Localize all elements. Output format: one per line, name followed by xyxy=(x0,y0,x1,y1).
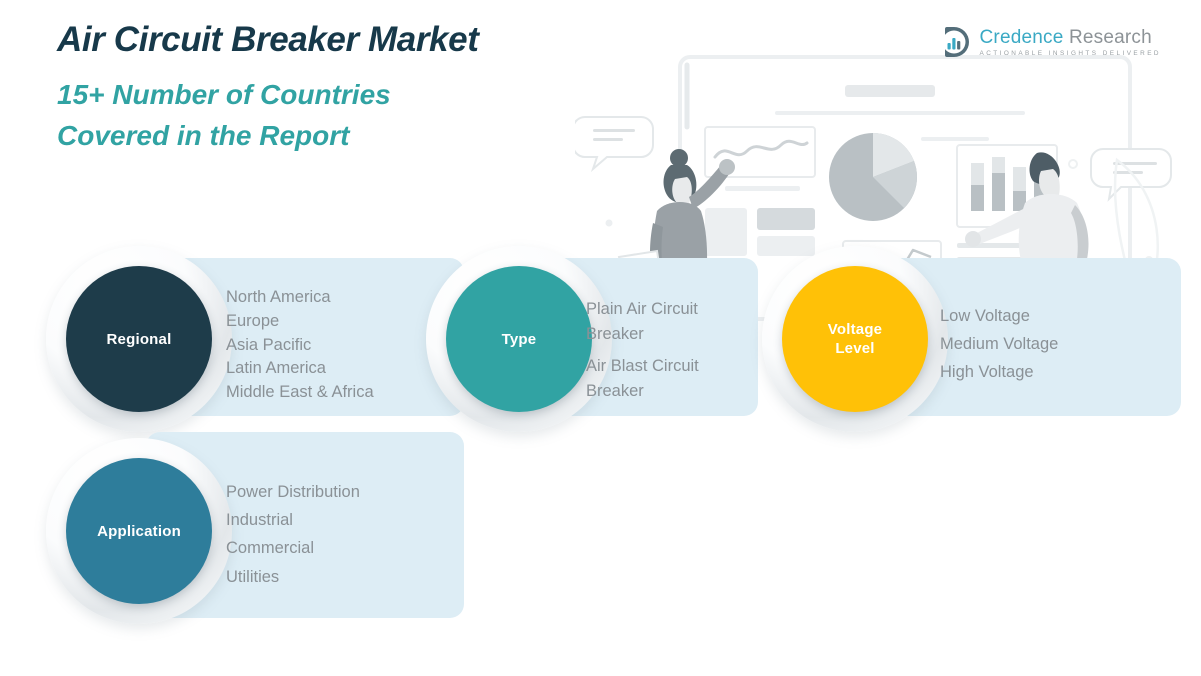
list-item: Power Distribution xyxy=(226,478,360,506)
segment-list-regional: North America Europe Asia Pacific Latin … xyxy=(226,286,374,405)
list-item: Industrial xyxy=(226,506,360,534)
logo-name-suffix: Research xyxy=(1063,27,1151,48)
logo-name-brand: Credence xyxy=(980,27,1064,48)
list-item: Plain Air Circuit Breaker xyxy=(586,297,699,346)
segment-list-voltage-level: Low Voltage Medium Voltage High Voltage xyxy=(940,302,1058,387)
list-item: Middle East & Africa xyxy=(226,381,374,405)
list-item: Asia Pacific xyxy=(226,334,374,358)
card-circle-label: Application xyxy=(66,458,212,604)
list-item: High Voltage xyxy=(940,358,1058,386)
list-item: Latin America xyxy=(226,357,374,381)
list-item: Commercial xyxy=(226,534,360,562)
header: Air Circuit Breaker Market 15+ Number of… xyxy=(57,18,697,156)
page-title: Air Circuit Breaker Market xyxy=(57,18,697,62)
card-circle-label: Type xyxy=(446,266,592,412)
speech-bubble-right-icon xyxy=(1091,149,1171,199)
list-item: Low Voltage xyxy=(940,302,1058,330)
segment-list-type: Plain Air Circuit Breaker Air Blast Circ… xyxy=(586,297,699,403)
list-item: Medium Voltage xyxy=(940,330,1058,358)
logo-name: Credence Research xyxy=(980,27,1162,48)
page-subtitle: 15+ Number of Countries Covered in the R… xyxy=(57,74,487,156)
list-item: Utilities xyxy=(226,563,360,591)
list-item: Air Blast Circuit Breaker xyxy=(586,354,699,403)
card-circle-label: Regional xyxy=(66,266,212,412)
segment-list-application: Power Distribution Industrial Commercial… xyxy=(226,478,360,591)
infographic-slide: Air Circuit Breaker Market 15+ Number of… xyxy=(0,0,1201,676)
credence-research-logo[interactable]: Credence Research Actionable Insights De… xyxy=(937,25,1162,59)
logo-tagline: Actionable Insights Delivered xyxy=(980,50,1162,57)
card-circle-label: Voltage Level xyxy=(782,266,928,412)
bar-chart-circle-icon xyxy=(937,25,971,59)
list-item: North America xyxy=(226,286,374,310)
list-item: Europe xyxy=(226,310,374,334)
